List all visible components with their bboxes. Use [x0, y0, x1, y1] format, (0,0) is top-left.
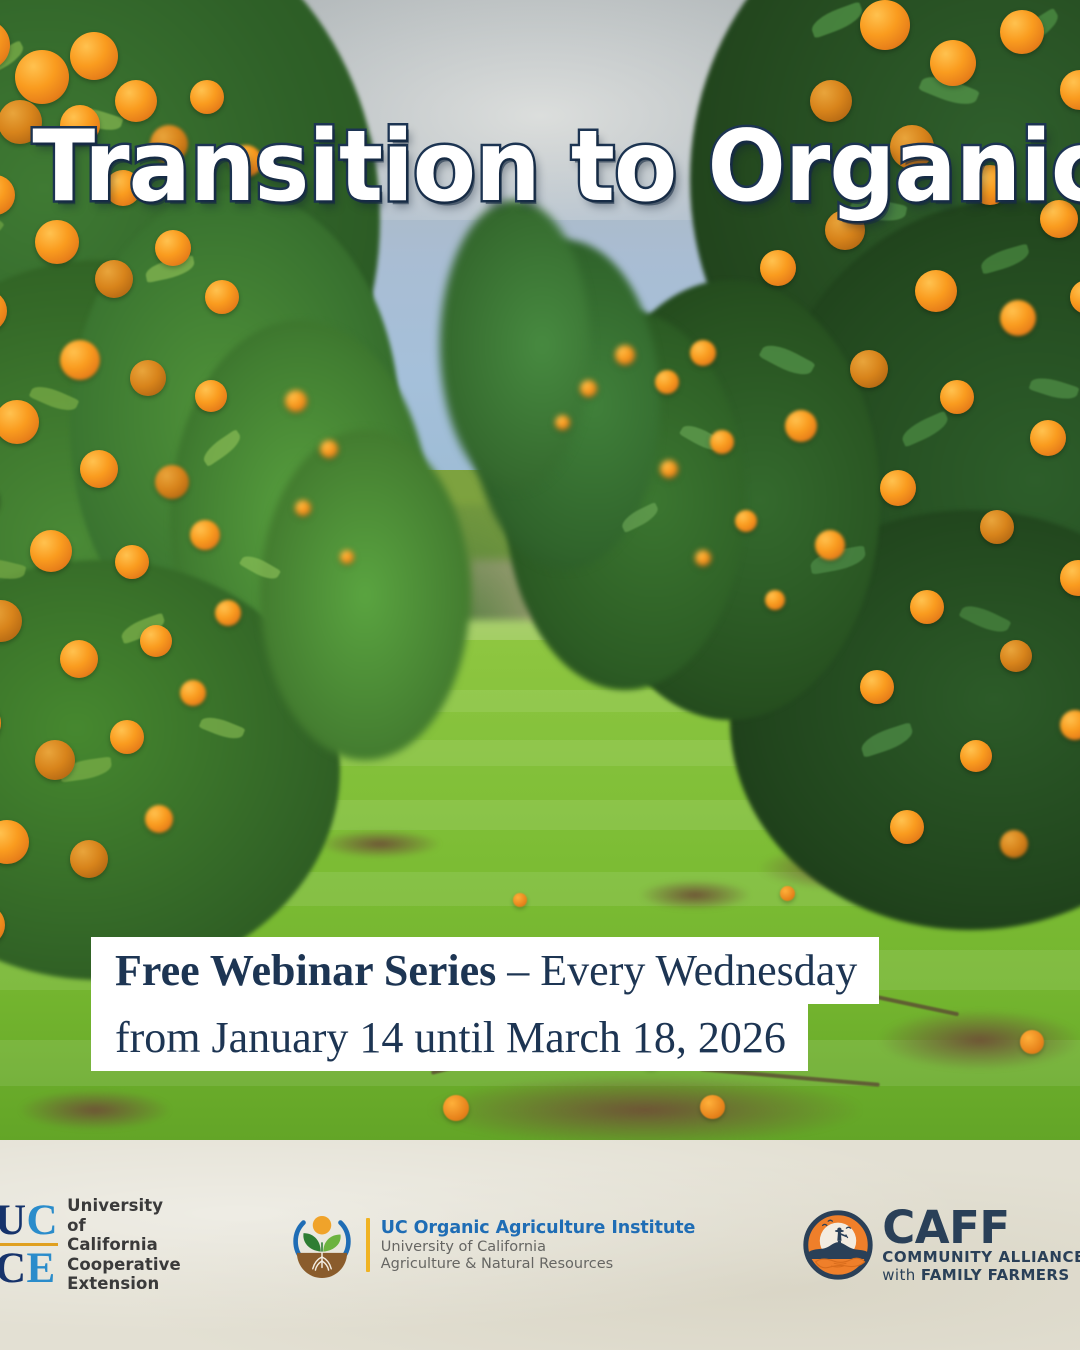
orange-fruit — [860, 0, 910, 50]
orange-fruit — [850, 350, 888, 388]
ucce-wordmark-icon: UC CE — [0, 1200, 58, 1290]
orange-fruit — [215, 600, 241, 626]
orchard-photo: Transition to Organic Free Webinar Serie… — [0, 0, 1080, 1140]
orange-fruit — [765, 590, 785, 610]
partner-logos: UC CE University of California Cooperati… — [0, 1140, 1080, 1350]
ucce-word-2: of California — [67, 1216, 181, 1255]
caff-with: with — [882, 1266, 921, 1284]
orange-fruit — [915, 270, 957, 312]
farmer-sunset-handshake-circle-icon — [803, 1210, 873, 1280]
ucce-u: U — [0, 1197, 27, 1244]
caff-family-farmers: FAMILY FARMERS — [921, 1266, 1070, 1284]
ucce-mark-row-1: UC — [0, 1200, 58, 1242]
orange-fruit — [1000, 10, 1044, 54]
dirt-patch — [880, 1010, 1080, 1070]
orange-fruit — [140, 625, 172, 657]
caff-tagline-1: COMMUNITY ALLIANCE — [882, 1248, 1080, 1266]
orange-fruit — [615, 345, 635, 365]
poster-root: Transition to Organic Free Webinar Serie… — [0, 0, 1080, 1350]
banner-schedule-day: Every Wednesday — [540, 946, 857, 995]
ucoai-title: UC Organic Agriculture Institute — [381, 1217, 695, 1239]
orange-fruit — [190, 80, 224, 114]
orange-fruit — [760, 250, 796, 286]
fallen-orange — [1020, 1030, 1044, 1054]
orange-fruit — [70, 32, 118, 80]
banner-line-2: from January 14 until March 18, 2026 — [91, 1004, 808, 1071]
orange-fruit — [785, 410, 817, 442]
caff-acronym: CAFF — [882, 1207, 1080, 1248]
orange-fruit — [70, 840, 108, 878]
orange-fruit — [155, 465, 189, 499]
orange-fruit — [710, 430, 734, 454]
ucoai-gold-divider — [366, 1218, 370, 1272]
orange-fruit — [695, 550, 711, 566]
banner-series-label: Free Webinar Series — [115, 946, 496, 995]
dirt-patch — [430, 1075, 860, 1140]
ucce-e: E — [27, 1245, 56, 1292]
dirt-patch — [20, 1090, 170, 1130]
banner-line-1: Free Webinar Series – Every Wednesday — [91, 937, 879, 1004]
orange-fruit — [180, 680, 206, 706]
fallen-orange — [700, 1095, 725, 1119]
orange-fruit — [285, 390, 307, 412]
orange-fruit — [205, 280, 239, 314]
orange-fruit — [1000, 830, 1028, 858]
orange-fruit — [960, 740, 992, 772]
ucce-mark-row-2: CE — [0, 1248, 58, 1290]
page-title: Transition to Organic — [32, 118, 1047, 216]
logo-ucce[interactable]: UC CE University of California Cooperati… — [0, 1196, 181, 1294]
ucce-c2: C — [0, 1245, 27, 1292]
orange-fruit — [815, 530, 845, 560]
orange-fruit — [910, 590, 944, 624]
logo-uc-organic-agriculture-institute[interactable]: UC Organic Agriculture Institute Univers… — [289, 1212, 695, 1278]
ucoai-sub-2: Agriculture & Natural Resources — [381, 1256, 695, 1274]
orange-fruit — [195, 380, 227, 412]
orange-fruit — [660, 460, 678, 478]
orange-fruit — [60, 340, 100, 380]
ucoai-name-block: UC Organic Agriculture Institute Univers… — [381, 1217, 695, 1274]
orange-fruit — [860, 670, 894, 704]
orange-fruit — [35, 740, 75, 780]
orange-fruit — [30, 530, 72, 572]
ucce-word-1: University — [67, 1196, 181, 1216]
fallen-orange — [443, 1095, 469, 1121]
orange-fruit — [1000, 640, 1032, 672]
ucce-word-3: Cooperative — [67, 1255, 181, 1275]
orange-fruit — [35, 220, 79, 264]
orange-fruit — [890, 810, 924, 844]
orange-fruit — [1000, 300, 1036, 336]
orange-fruit — [15, 50, 69, 104]
caff-tagline-2: with FAMILY FARMERS — [882, 1266, 1080, 1284]
orange-fruit — [190, 520, 220, 550]
orange-fruit — [80, 450, 118, 488]
orange-fruit — [320, 440, 338, 458]
caff-name-block: CAFF COMMUNITY ALLIANCE with FAMILY FARM… — [882, 1207, 1080, 1284]
orange-fruit — [930, 40, 976, 86]
orange-fruit — [295, 500, 311, 516]
orange-fruit — [1030, 420, 1066, 456]
ucce-word-4: Extension — [67, 1274, 181, 1294]
sprout-sun-roots-circle-icon — [289, 1212, 355, 1278]
canopy-mass — [260, 430, 470, 760]
logo-caff[interactable]: CAFF COMMUNITY ALLIANCE with FAMILY FARM… — [803, 1207, 1080, 1284]
orange-fruit — [980, 510, 1014, 544]
orange-fruit — [580, 380, 597, 397]
orange-fruit — [735, 510, 757, 532]
fallen-orange — [513, 893, 527, 907]
orange-fruit — [940, 380, 974, 414]
ucce-name-block: University of California Cooperative Ext… — [67, 1196, 181, 1294]
orange-fruit — [155, 230, 191, 266]
orange-fruit — [145, 805, 173, 833]
orange-fruit — [555, 415, 570, 430]
orange-fruit — [110, 720, 144, 754]
orange-fruit — [115, 545, 149, 579]
orange-fruit — [340, 550, 354, 564]
orange-fruit — [95, 260, 133, 298]
ucce-c1: C — [27, 1197, 59, 1244]
orange-fruit — [655, 370, 679, 394]
orange-fruit — [880, 470, 916, 506]
footer-bar: UC CE University of California Cooperati… — [0, 1140, 1080, 1350]
orange-fruit — [690, 340, 716, 366]
banner-dash: – — [496, 946, 540, 995]
ucoai-sub-1: University of California — [381, 1239, 695, 1257]
webinar-info-banner: Free Webinar Series – Every Wednesday fr… — [91, 937, 879, 1071]
orange-fruit — [60, 640, 98, 678]
canopy-mass — [440, 200, 590, 490]
orange-fruit — [130, 360, 166, 396]
